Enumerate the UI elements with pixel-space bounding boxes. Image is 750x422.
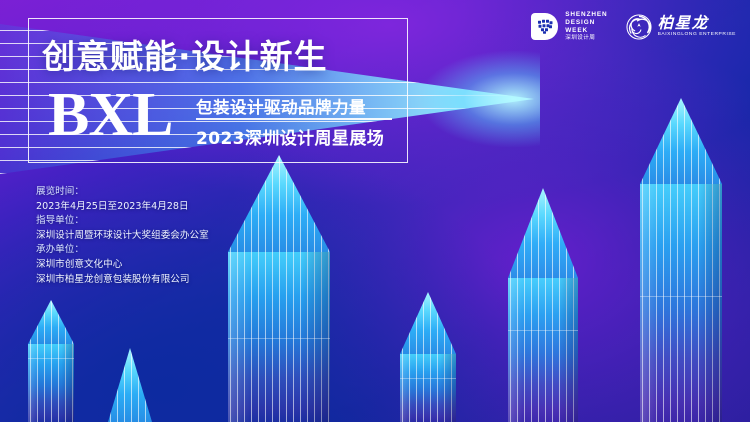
pencil-seam: [400, 378, 456, 379]
event-info-block: 展览时间：2023年4月25日至2023年4月28日指导单位：深圳设计周暨环球设…: [36, 185, 336, 287]
info-label: 承办单位：: [36, 243, 336, 258]
poster-banner: 创意赋能·设计新生 BXL 包装设计驱动品牌力量 2023深圳设计周星展场 展览…: [0, 0, 750, 422]
beam-glow: [420, 51, 540, 147]
pencil-seam: [228, 338, 330, 339]
info-label: 指导单位：: [36, 214, 336, 229]
subtitle-secondary: 2023深圳设计周星展场: [196, 124, 384, 149]
info-value: 深圳设计周暨环球设计大奖组委会办公室: [36, 229, 336, 244]
pencil-tip: [508, 188, 578, 278]
sdw-chinese-name: 深圳设计周: [565, 36, 607, 42]
shenzhen-design-week-text: SHENZHEN DESIGN WEEK 深圳设计周: [565, 12, 607, 42]
brand-mark-bxl: BXL: [48, 84, 172, 146]
heart-in-d-icon: [531, 13, 558, 40]
pencil-body: [400, 354, 456, 422]
subtitle-divider: [196, 118, 392, 120]
sdw-line1: SHENZHEN: [565, 12, 607, 18]
baixinglong-text: 柏星龙 BAIXINGLONG ENTERPRISE: [658, 16, 736, 38]
baixinglong-logo: 柏星龙 BAIXINGLONG ENTERPRISE: [626, 14, 736, 40]
pencil-body: [640, 184, 722, 422]
baixinglong-english-name: BAIXINGLONG ENTERPRISE: [658, 33, 736, 38]
pencil-2: [108, 348, 152, 422]
info-value: 深圳市创意文化中心: [36, 258, 336, 273]
pencil-seam: [28, 358, 74, 359]
pencil-tip: [108, 348, 152, 422]
pencil-tip: [640, 98, 722, 184]
info-value: 2023年4月25日至2023年4月28日: [36, 200, 336, 215]
pencil-tip: [28, 300, 74, 344]
pencil-seam: [508, 330, 578, 331]
sdw-line3: WEEK: [565, 28, 607, 34]
swirl-circle-icon: [626, 14, 652, 40]
pencil-body: [508, 278, 578, 422]
sdw-line2: DESIGN: [565, 20, 607, 26]
pencil-5: [508, 188, 578, 422]
pencil-tip: [400, 292, 456, 354]
pencil-seam: [640, 296, 722, 297]
pencil-1: [28, 300, 74, 422]
shenzhen-design-week-logo: SHENZHEN DESIGN WEEK 深圳设计周: [531, 12, 607, 42]
subtitle-primary: 包装设计驱动品牌力量: [196, 94, 366, 118]
info-value: 深圳市柏星龙创意包装股份有限公司: [36, 273, 336, 288]
pencil-body: [28, 344, 74, 422]
pixel-heart-icon: [536, 19, 553, 34]
pencil-4: [400, 292, 456, 422]
baixinglong-chinese-name: 柏星龙: [658, 16, 736, 32]
pencil-6: [640, 98, 722, 422]
logo-row: SHENZHEN DESIGN WEEK 深圳设计周 柏星龙 BAIXINGLO…: [531, 12, 736, 42]
page-title: 创意赋能·设计新生: [42, 30, 402, 78]
info-label: 展览时间：: [36, 185, 336, 200]
